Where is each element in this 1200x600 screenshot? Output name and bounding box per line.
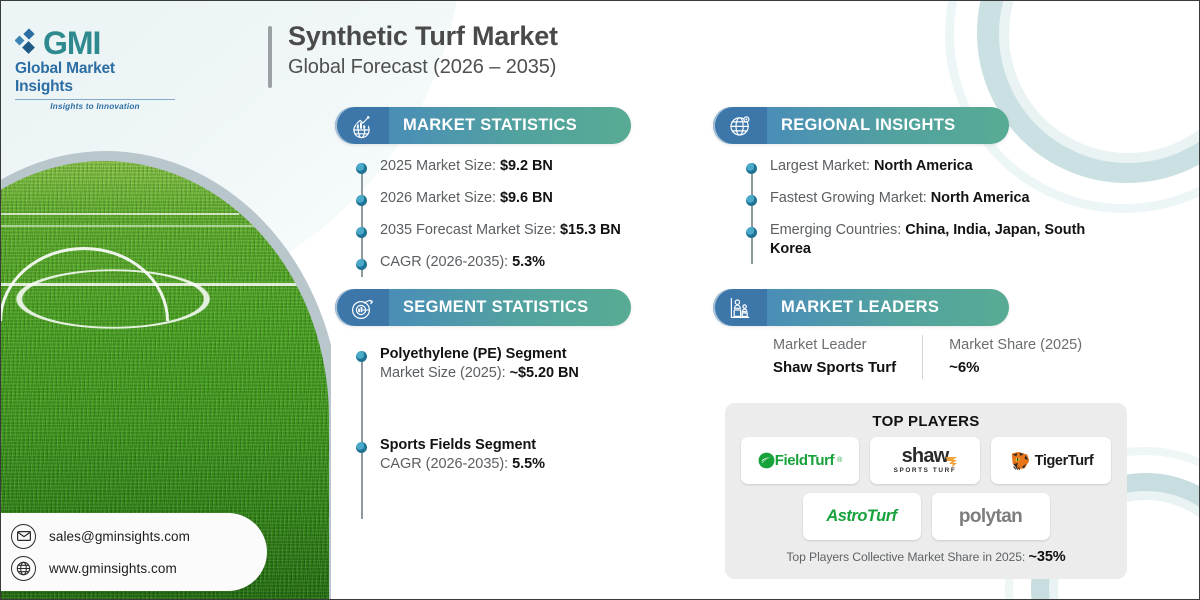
item-value: North America [874,158,973,174]
bullet-dot-icon [356,195,367,206]
top-players-row-1: FieldTurf® shaw SPORTS TURF [739,437,1113,484]
section-header-market-leaders[interactable]: MARKET LEADERS [713,289,1009,326]
globe-pin-icon [713,107,767,144]
bullet-dot-icon [356,163,367,174]
pie-chart-arrow-icon [335,289,389,326]
list-item: CAGR (2026-2035): 5.3% [356,253,686,272]
section-label: MARKET STATISTICS [389,107,601,144]
market-share-column: Market Share (2025) ~6% [922,335,1108,379]
bullet-dot-icon [356,259,367,270]
logo-company-name: Global Market Insights [15,60,175,96]
envelope-icon [11,524,36,549]
player-logo-polytan[interactable]: polytan [932,493,1050,540]
logo-mark: GMI [15,27,175,59]
section-label: REGIONAL INSIGHTS [767,107,979,144]
list-item: 2025 Market Size: $9.2 BN [356,157,686,176]
logo-diamonds-icon [15,28,41,58]
player-logo-tigerturf[interactable]: TigerTurf [991,437,1111,484]
item-key: 2025 Market Size: [380,158,500,174]
item-key: Fastest Growing Market: [770,190,931,206]
bullet-dot-icon [746,163,757,174]
item-value: North America [931,190,1030,206]
item-value: $15.3 BN [560,222,621,238]
tiger-face-icon [1009,450,1031,472]
bullet-dot-icon [746,195,757,206]
pitch-line [1,225,259,227]
logo-initials: GMI [43,27,100,59]
logo-tagline: Insights to Innovation [15,102,175,111]
item-value: ~$5.20 BN [510,365,579,381]
page-title: Synthetic Turf Market [288,21,558,52]
top-players-title: TOP PLAYERS [739,413,1113,430]
market-share-value: ~6% [949,357,1082,379]
contact-email-text: sales@gminsights.com [49,529,190,544]
registered-mark: ® [837,457,842,464]
bullet-dot-icon [746,227,757,238]
top-players-footer-text: Top Players Collective Market Share in 2… [786,550,1028,564]
top-players-row-2: AstroTurf polytan [739,493,1113,540]
top-players-footer: Top Players Collective Market Share in 2… [739,549,1113,565]
market-leader-column: Market Leader Shaw Sports Turf [773,335,922,379]
section-header-regional-insights[interactable]: REGIONAL INSIGHTS [713,107,1009,144]
bullet-dot-icon [356,351,367,362]
player-logo-fieldturf[interactable]: FieldTurf® [741,437,859,484]
item-value: $9.2 BN [500,158,553,174]
podium-icon [713,289,767,326]
infographic-canvas: sales@gminsights.com www.gminsights.com [0,0,1200,600]
shaw-swoosh-icon [945,454,958,473]
player-name: polytan [959,506,1022,528]
item-key: Market Size (2025): [380,365,510,381]
globe-icon [11,556,36,581]
top-players-footer-value: ~35% [1028,549,1065,565]
item-key: 2026 Market Size: [380,190,500,206]
list-item: 2035 Forecast Market Size: $15.3 BN [356,221,686,240]
player-logo-shaw[interactable]: shaw SPORTS TURF [870,437,980,484]
market-leader-label: Market Leader [773,335,896,357]
globe-bar-chart-icon [335,107,389,144]
contact-website-row[interactable]: www.gminsights.com [11,556,267,581]
player-logo-astroturf[interactable]: AstroTurf [803,493,921,540]
section-header-segment-statistics[interactable]: SEGMENT STATISTICS [335,289,631,326]
player-name: shaw [902,445,949,467]
player-name: TigerTurf [1035,453,1094,469]
bullet-dot-icon [356,227,367,238]
top-players-panel: TOP PLAYERS FieldTurf® shaw [725,403,1127,579]
item-key: Emerging Countries: [770,222,905,238]
market-share-label: Market Share (2025) [949,335,1082,357]
market-leader-value: Shaw Sports Turf [773,357,896,379]
list-item: Fastest Growing Market: North America [746,189,1126,208]
pitch-line [1,213,239,215]
contact-website-text: www.gminsights.com [49,561,177,576]
item-value: 5.3% [512,254,545,270]
item-value: 5.5% [512,456,545,472]
section-label: MARKET LEADERS [767,289,963,326]
item-key: CAGR (2026-2035): [380,456,512,472]
decorative-ring-top-right-main [977,0,1200,183]
logo-divider [15,99,175,100]
segment-statistics-list: Polyethylene (PE) Segment Market Size (2… [356,345,686,527]
gmi-logo[interactable]: GMI Global Market Insights Insights to I… [15,27,175,111]
leaf-circle-icon [758,452,775,469]
item-value: $9.6 BN [500,190,553,206]
list-item: Largest Market: North America [746,157,1126,176]
page-subtitle: Global Forecast (2026 – 2035) [288,56,558,79]
list-item: 2026 Market Size: $9.6 BN [356,189,686,208]
item-lead: Sports Fields Segment [380,436,545,455]
regional-insights-list: Largest Market: North America Fastest Gr… [746,157,1126,272]
item-key: 2035 Forecast Market Size: [380,222,560,238]
market-leaders-body: Market Leader Shaw Sports Turf Market Sh… [773,335,1108,379]
section-header-market-statistics[interactable]: MARKET STATISTICS [335,107,631,144]
decorative-ring-top-right-inner [999,0,1200,163]
section-label: SEGMENT STATISTICS [389,289,612,326]
pitch-center-arc [1,247,169,321]
list-item: Sports Fields Segment CAGR (2026-2035): … [356,436,686,475]
item-key: Largest Market: [770,158,874,174]
contact-email-row[interactable]: sales@gminsights.com [11,524,267,549]
list-item: Emerging Countries: China, India, Japan,… [746,221,1126,260]
market-statistics-list: 2025 Market Size: $9.2 BN 2026 Market Si… [356,157,686,285]
title-block: Synthetic Turf Market Global Forecast (2… [268,21,558,79]
item-lead: Polyethylene (PE) Segment [380,345,579,364]
player-name: FieldTurf [775,452,834,469]
bullet-dot-icon [356,442,367,453]
player-name: AstroTurf [826,507,896,526]
list-item: Polyethylene (PE) Segment Market Size (2… [356,345,686,384]
contact-bar: sales@gminsights.com www.gminsights.com [0,513,267,591]
item-key: CAGR (2026-2035): [380,254,512,270]
